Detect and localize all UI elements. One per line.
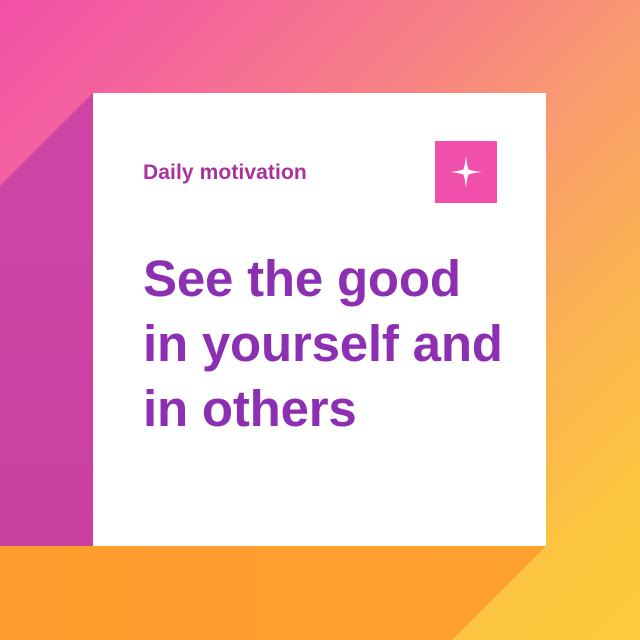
headline-line-2: in yourself and — [143, 311, 522, 376]
headline-line-1: See the good — [143, 246, 522, 311]
quote-headline: See the good in yourself and in others — [143, 246, 522, 441]
quote-card: Daily motivation See the good in yoursel… — [93, 93, 546, 546]
card-header: Daily motivation — [143, 141, 497, 203]
sparkle-icon — [449, 155, 483, 189]
motivational-quote-poster: Daily motivation See the good in yoursel… — [0, 0, 640, 640]
headline-line-3: in others — [143, 376, 522, 441]
sparkle-badge — [435, 141, 497, 203]
card-eyebrow-label: Daily motivation — [143, 162, 307, 183]
